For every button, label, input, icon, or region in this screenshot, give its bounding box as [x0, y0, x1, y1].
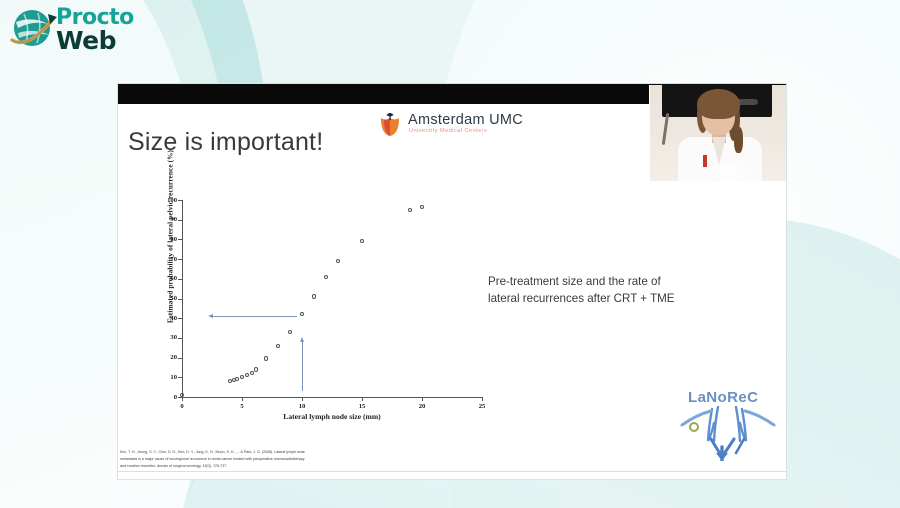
- citation-line-3: and curative resection. Annals of surgic…: [120, 463, 540, 470]
- chart-y-tick: [178, 318, 182, 319]
- chart-y-tick: [178, 338, 182, 339]
- chart-y-tick-label: 20: [159, 354, 177, 361]
- lanorec-anatomy-icon: [678, 403, 778, 461]
- chart-x-axis-label: Lateral lymph node size (mm): [182, 412, 482, 421]
- chart-y-tick-label: 60: [159, 275, 177, 282]
- chart-annotation-horizontal-arrowhead: [208, 314, 213, 318]
- chart-x-tick-label: 10: [292, 403, 312, 410]
- umc-name: Amsterdam UMC: [408, 112, 523, 128]
- chart-x-axis-line: [182, 397, 482, 398]
- chart-x-tick: [482, 397, 483, 401]
- chart-y-tick-label: 30: [159, 334, 177, 341]
- chart-y-tick-label: 100: [159, 197, 177, 204]
- presenter-braid: [734, 127, 743, 153]
- chart-data-point: [276, 344, 280, 348]
- chart-x-tick-label: 5: [232, 403, 252, 410]
- recurrence-scatter-chart: Estimated probability of lateral pelvic …: [136, 194, 506, 429]
- slide-citation: Kim, T. H., Jeong, S. Y., Choi, D. H., K…: [120, 449, 540, 470]
- chart-y-tick: [178, 299, 182, 300]
- chart-x-tick: [302, 397, 303, 401]
- chart-y-tick: [178, 220, 182, 221]
- chart-x-tick-label: 25: [472, 403, 492, 410]
- chart-y-tick-label: 10: [159, 374, 177, 381]
- chart-x-tick-label: 20: [412, 403, 432, 410]
- chart-data-point: [264, 356, 268, 360]
- chart-data-point: [240, 375, 244, 379]
- chart-y-tick-label: 0: [159, 394, 177, 401]
- chart-x-tick: [362, 397, 363, 401]
- umc-subtitle: University Medical Centers: [409, 128, 487, 134]
- citation-line-2: metastasis is a major cause of locoregio…: [120, 456, 540, 463]
- chart-x-tick: [422, 397, 423, 401]
- chart-y-tick: [178, 259, 182, 260]
- chart-y-tick: [178, 239, 182, 240]
- slide-caption: Pre-treatment size and the rate of later…: [488, 274, 703, 308]
- globe-icon: [10, 6, 58, 54]
- chart-y-tick-label: 40: [159, 315, 177, 322]
- site-logo[interactable]: Procto Web: [8, 4, 158, 56]
- tulip-icon: [378, 111, 402, 137]
- chart-y-tick-label: 50: [159, 295, 177, 302]
- site-logo-line-2: Web: [56, 28, 116, 53]
- chart-y-tick-label: 70: [159, 256, 177, 263]
- citation-line-1: Kim, T. H., Jeong, S. Y., Choi, D. H., K…: [120, 449, 540, 456]
- chart-x-tick-label: 15: [352, 403, 372, 410]
- chart-data-point: [254, 367, 258, 371]
- chart-data-point: [420, 205, 424, 209]
- chart-annotation-vertical-line: [302, 342, 303, 391]
- chart-y-tick: [178, 200, 182, 201]
- chart-y-tick-label: 90: [159, 216, 177, 223]
- video-glare: [706, 161, 752, 181]
- presentation-slide[interactable]: Size is important! Amsterdam UMC Univers…: [118, 84, 786, 479]
- presenter-hair-top: [697, 89, 740, 119]
- caption-line-1: Pre-treatment size and the rate of: [488, 274, 703, 291]
- amsterdam-umc-logo: Amsterdam UMC University Medical Centers: [378, 110, 538, 140]
- chart-y-tick-label: 80: [159, 236, 177, 243]
- chart-data-point: [324, 275, 328, 279]
- chart-y-tick: [178, 358, 182, 359]
- chart-data-point: [300, 312, 304, 316]
- chart-y-tick: [178, 377, 182, 378]
- chart-data-point: [288, 330, 292, 334]
- chart-x-tick: [182, 397, 183, 401]
- chart-x-tick-label: 0: [172, 403, 192, 410]
- chart-annotation-vertical-arrowhead: [300, 337, 304, 342]
- chart-data-point: [250, 371, 254, 375]
- chart-plot-area: 01020304050607080901000510152025: [182, 200, 482, 397]
- presenter-video-tile[interactable]: [649, 85, 786, 181]
- chart-y-axis-line: [182, 200, 183, 397]
- caption-line-2: lateral recurrences after CRT + TME: [488, 291, 703, 308]
- lanorec-logo: LaNoReC: [678, 389, 778, 461]
- chart-x-tick: [242, 397, 243, 401]
- chart-data-point: [235, 377, 239, 381]
- site-logo-wordmark: Procto Web: [54, 4, 158, 56]
- chart-data-point: [245, 373, 249, 377]
- chart-data-point: [408, 208, 412, 212]
- chart-y-tick: [178, 279, 182, 280]
- chart-data-point: [360, 239, 364, 243]
- chart-data-point: [312, 294, 316, 298]
- chart-annotation-horizontal-line: [212, 316, 297, 317]
- citation-divider: [118, 471, 786, 472]
- chart-data-point: [336, 259, 340, 263]
